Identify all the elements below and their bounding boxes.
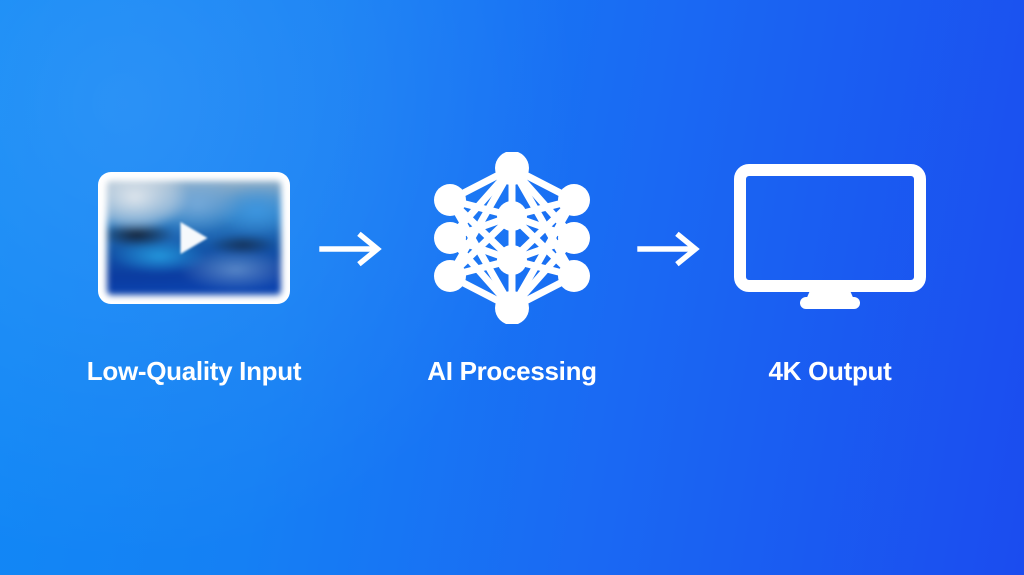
monitor-icon[interactable] [734,164,926,312]
pipeline-step-input: Low-Quality Input [78,158,310,418]
step-label-output: 4K Output [769,356,892,387]
infographic-canvas: Low-Quality Input [0,0,1024,575]
pipeline-step-processing: AI Processing [396,158,628,418]
pipeline-step-output: 4K Output [714,158,946,418]
step-label-input: Low-Quality Input [87,356,301,387]
input-icon-box [98,158,290,318]
connector-1 [310,158,396,418]
processing-icon-box [426,158,598,318]
output-icon-box [734,158,926,318]
step-label-processing: AI Processing [427,356,597,387]
neural-network-icon[interactable] [426,152,598,324]
play-icon[interactable] [181,222,208,254]
arrow-right-icon [637,228,705,270]
connector-2 [628,158,714,418]
arrow-right-icon [319,228,387,270]
blurry-video-thumbnail-icon[interactable] [98,172,290,304]
pipeline-row: Low-Quality Input [0,0,1024,575]
